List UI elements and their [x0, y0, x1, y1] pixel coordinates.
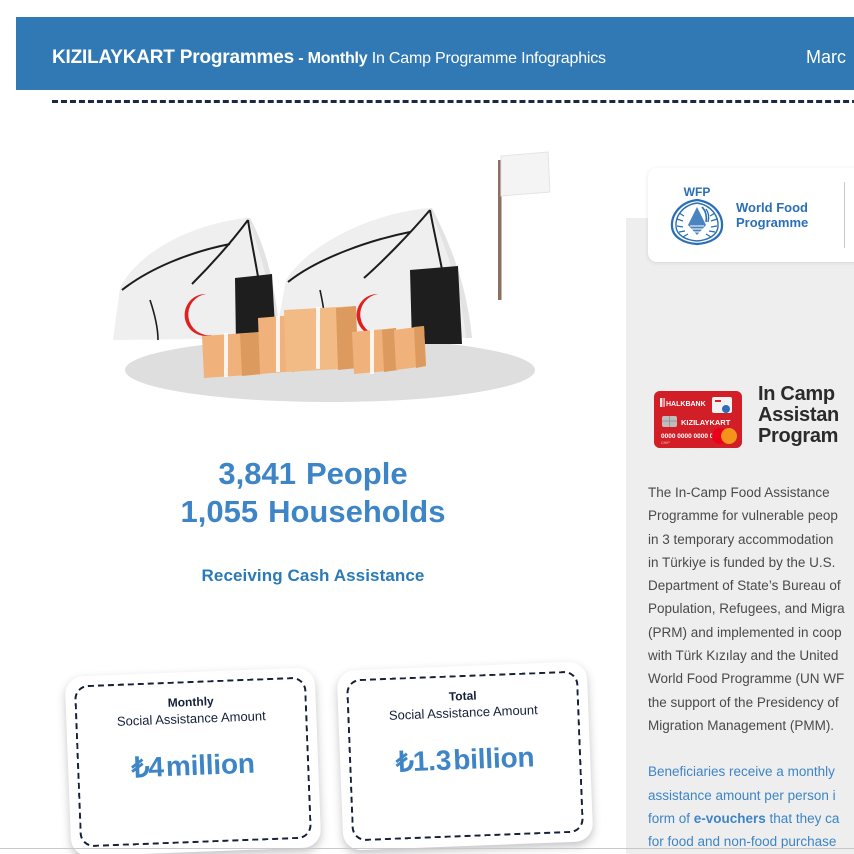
- panel-title-line1: In Camp: [758, 384, 854, 405]
- paragraph-line: Beneficiaries receive a monthly: [648, 760, 854, 783]
- paragraph-line: assistance amount per person i: [648, 784, 854, 807]
- wfp-line1: World Food: [736, 200, 808, 215]
- amount-card-content: Total Social Assistance Amount ₺1.3 bill…: [337, 683, 590, 781]
- kizilaykart-card-icon: HALKBANK KIZILAYKART 0000 0000 0000 0000…: [654, 391, 742, 448]
- currency-symbol: ₺: [131, 752, 149, 784]
- page-bottom-edge: [0, 848, 854, 849]
- panel-title: In Camp Assistan Program: [758, 384, 854, 447]
- paragraph-line: in Türkiye is funded by the U.S.: [648, 551, 854, 574]
- svg-text:KIZILAYKART: KIZILAYKART: [681, 418, 731, 427]
- evoucher-post: that they ca: [766, 811, 840, 826]
- paragraph-line: in 3 temporary accommodation: [648, 528, 854, 551]
- paragraph-line: the support of the Presidency of: [648, 691, 854, 714]
- currency-symbol: ₺: [395, 746, 413, 778]
- amount-unit: billion: [453, 741, 535, 775]
- stat-people-value: 3,841: [218, 456, 296, 491]
- paragraph-line: Programme for vulnerable peop: [648, 504, 854, 527]
- stat-households-value: 1,055: [181, 494, 259, 529]
- stat-people-label: People: [306, 456, 408, 491]
- partner-logos-card: WFP World Food Programme: [648, 168, 854, 262]
- paragraph-gap: [648, 737, 854, 760]
- evoucher-term: e-vouchers: [694, 811, 766, 826]
- amount-number: 4: [148, 751, 165, 783]
- stat-households-label: Households: [268, 494, 445, 529]
- panel-body-text: The In-Camp Food Assistance Programme fo…: [648, 481, 854, 854]
- evoucher-pre: form of: [648, 811, 694, 826]
- header-date: Marc: [806, 47, 846, 68]
- svg-text:WFP: WFP: [684, 185, 711, 199]
- paragraph-line: Department of State’s Bureau of: [648, 574, 854, 597]
- wfp-emblem-icon: WFP: [666, 183, 728, 247]
- amount-card-total: Total Social Assistance Amount ₺1.3 bill…: [337, 661, 594, 850]
- panel-title-line2: Assistan: [758, 405, 854, 426]
- svg-text:CHIP: CHIP: [661, 441, 670, 445]
- paragraph-line: Population, Refugees, and Migra: [648, 597, 854, 620]
- wfp-logo-text: World Food Programme: [736, 200, 808, 230]
- statistics-block: 3,841People 1,055Households Receiving Ca…: [0, 455, 626, 586]
- amount-unit: million: [165, 748, 255, 782]
- panel-title-line3: Program: [758, 426, 854, 447]
- paragraph-line: with Türk Kızılay and the United: [648, 644, 854, 667]
- amount-card-monthly: Monthly Social Assistance Amount ₺4 mill…: [65, 667, 322, 854]
- header-title-period: - Monthly: [294, 50, 368, 67]
- paragraph-line: (PRM) and implemented in coop: [648, 621, 854, 644]
- stat-subtitle: Receiving Cash Assistance: [0, 566, 626, 586]
- camp-tents-illustration: [80, 148, 580, 410]
- header-title-rest: In Camp Programme Infographics: [368, 50, 606, 67]
- logo-divider: [844, 182, 845, 248]
- amount-card-content: Monthly Social Assistance Amount ₺4 mill…: [65, 689, 318, 787]
- svg-text:HALKBANK: HALKBANK: [666, 401, 706, 408]
- amount-number: 1.3: [412, 745, 451, 777]
- infographic-page: KIZILAYKART Programmes - Monthly In Camp…: [0, 0, 854, 854]
- paragraph-line: for food and non-food purchase: [648, 830, 854, 853]
- wfp-line2: Programme: [736, 215, 808, 230]
- paragraph-line-evoucher: form of e-vouchers that they ca: [648, 807, 854, 830]
- paragraph-line: World Food Programme (UN WF: [648, 667, 854, 690]
- paragraph-line: The In-Camp Food Assistance: [648, 481, 854, 504]
- paragraph-line: Migration Management (PMM).: [648, 714, 854, 737]
- header-dashed-divider: [52, 100, 854, 103]
- page-title: KIZILAYKART Programmes - Monthly In Camp…: [52, 47, 606, 69]
- stat-households: 1,055Households: [0, 493, 626, 531]
- stat-people: 3,841People: [0, 455, 626, 493]
- header-title-main: KIZILAYKART Programmes: [52, 47, 294, 68]
- wfp-logo: WFP World Food Programme: [666, 182, 836, 248]
